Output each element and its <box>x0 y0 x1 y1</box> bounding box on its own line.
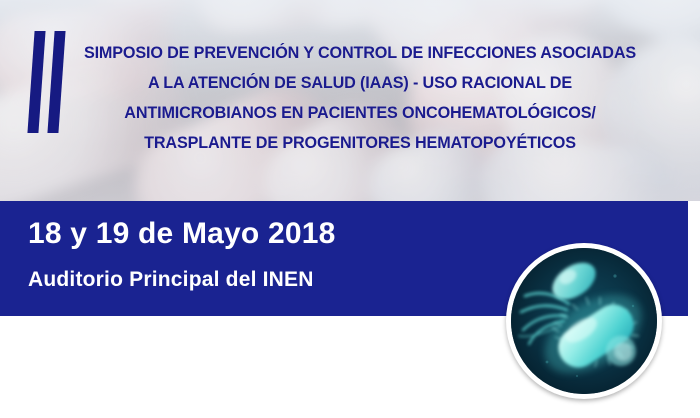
bacterium-icon <box>511 248 657 394</box>
event-info-text: 18 y 19 de Mayo 2018 Auditorio Principal… <box>28 215 336 295</box>
title-line-1: SIMPOSIO DE PREVENCIÓN Y CONTROL DE INFE… <box>40 38 680 68</box>
title-line-4: TRASPLANTE DE PROGENITORES HEMATOPOYÉTIC… <box>40 128 680 158</box>
title-line-2: A LA ATENCIÓN DE SALUD (IAAS) - USO RACI… <box>40 68 680 98</box>
event-venue: Auditorio Principal del INEN <box>28 265 336 295</box>
title-line-3: ANTIMICROBIANOS EN PACIENTES ONCOHEMATOL… <box>40 98 680 128</box>
event-date: 18 y 19 de Mayo 2018 <box>28 215 336 253</box>
bacterium-medallion <box>506 243 662 399</box>
poster-title: SIMPOSIO DE PREVENCIÓN Y CONTROL DE INFE… <box>40 38 680 158</box>
poster: SIMPOSIO DE PREVENCIÓN Y CONTROL DE INFE… <box>0 0 700 418</box>
